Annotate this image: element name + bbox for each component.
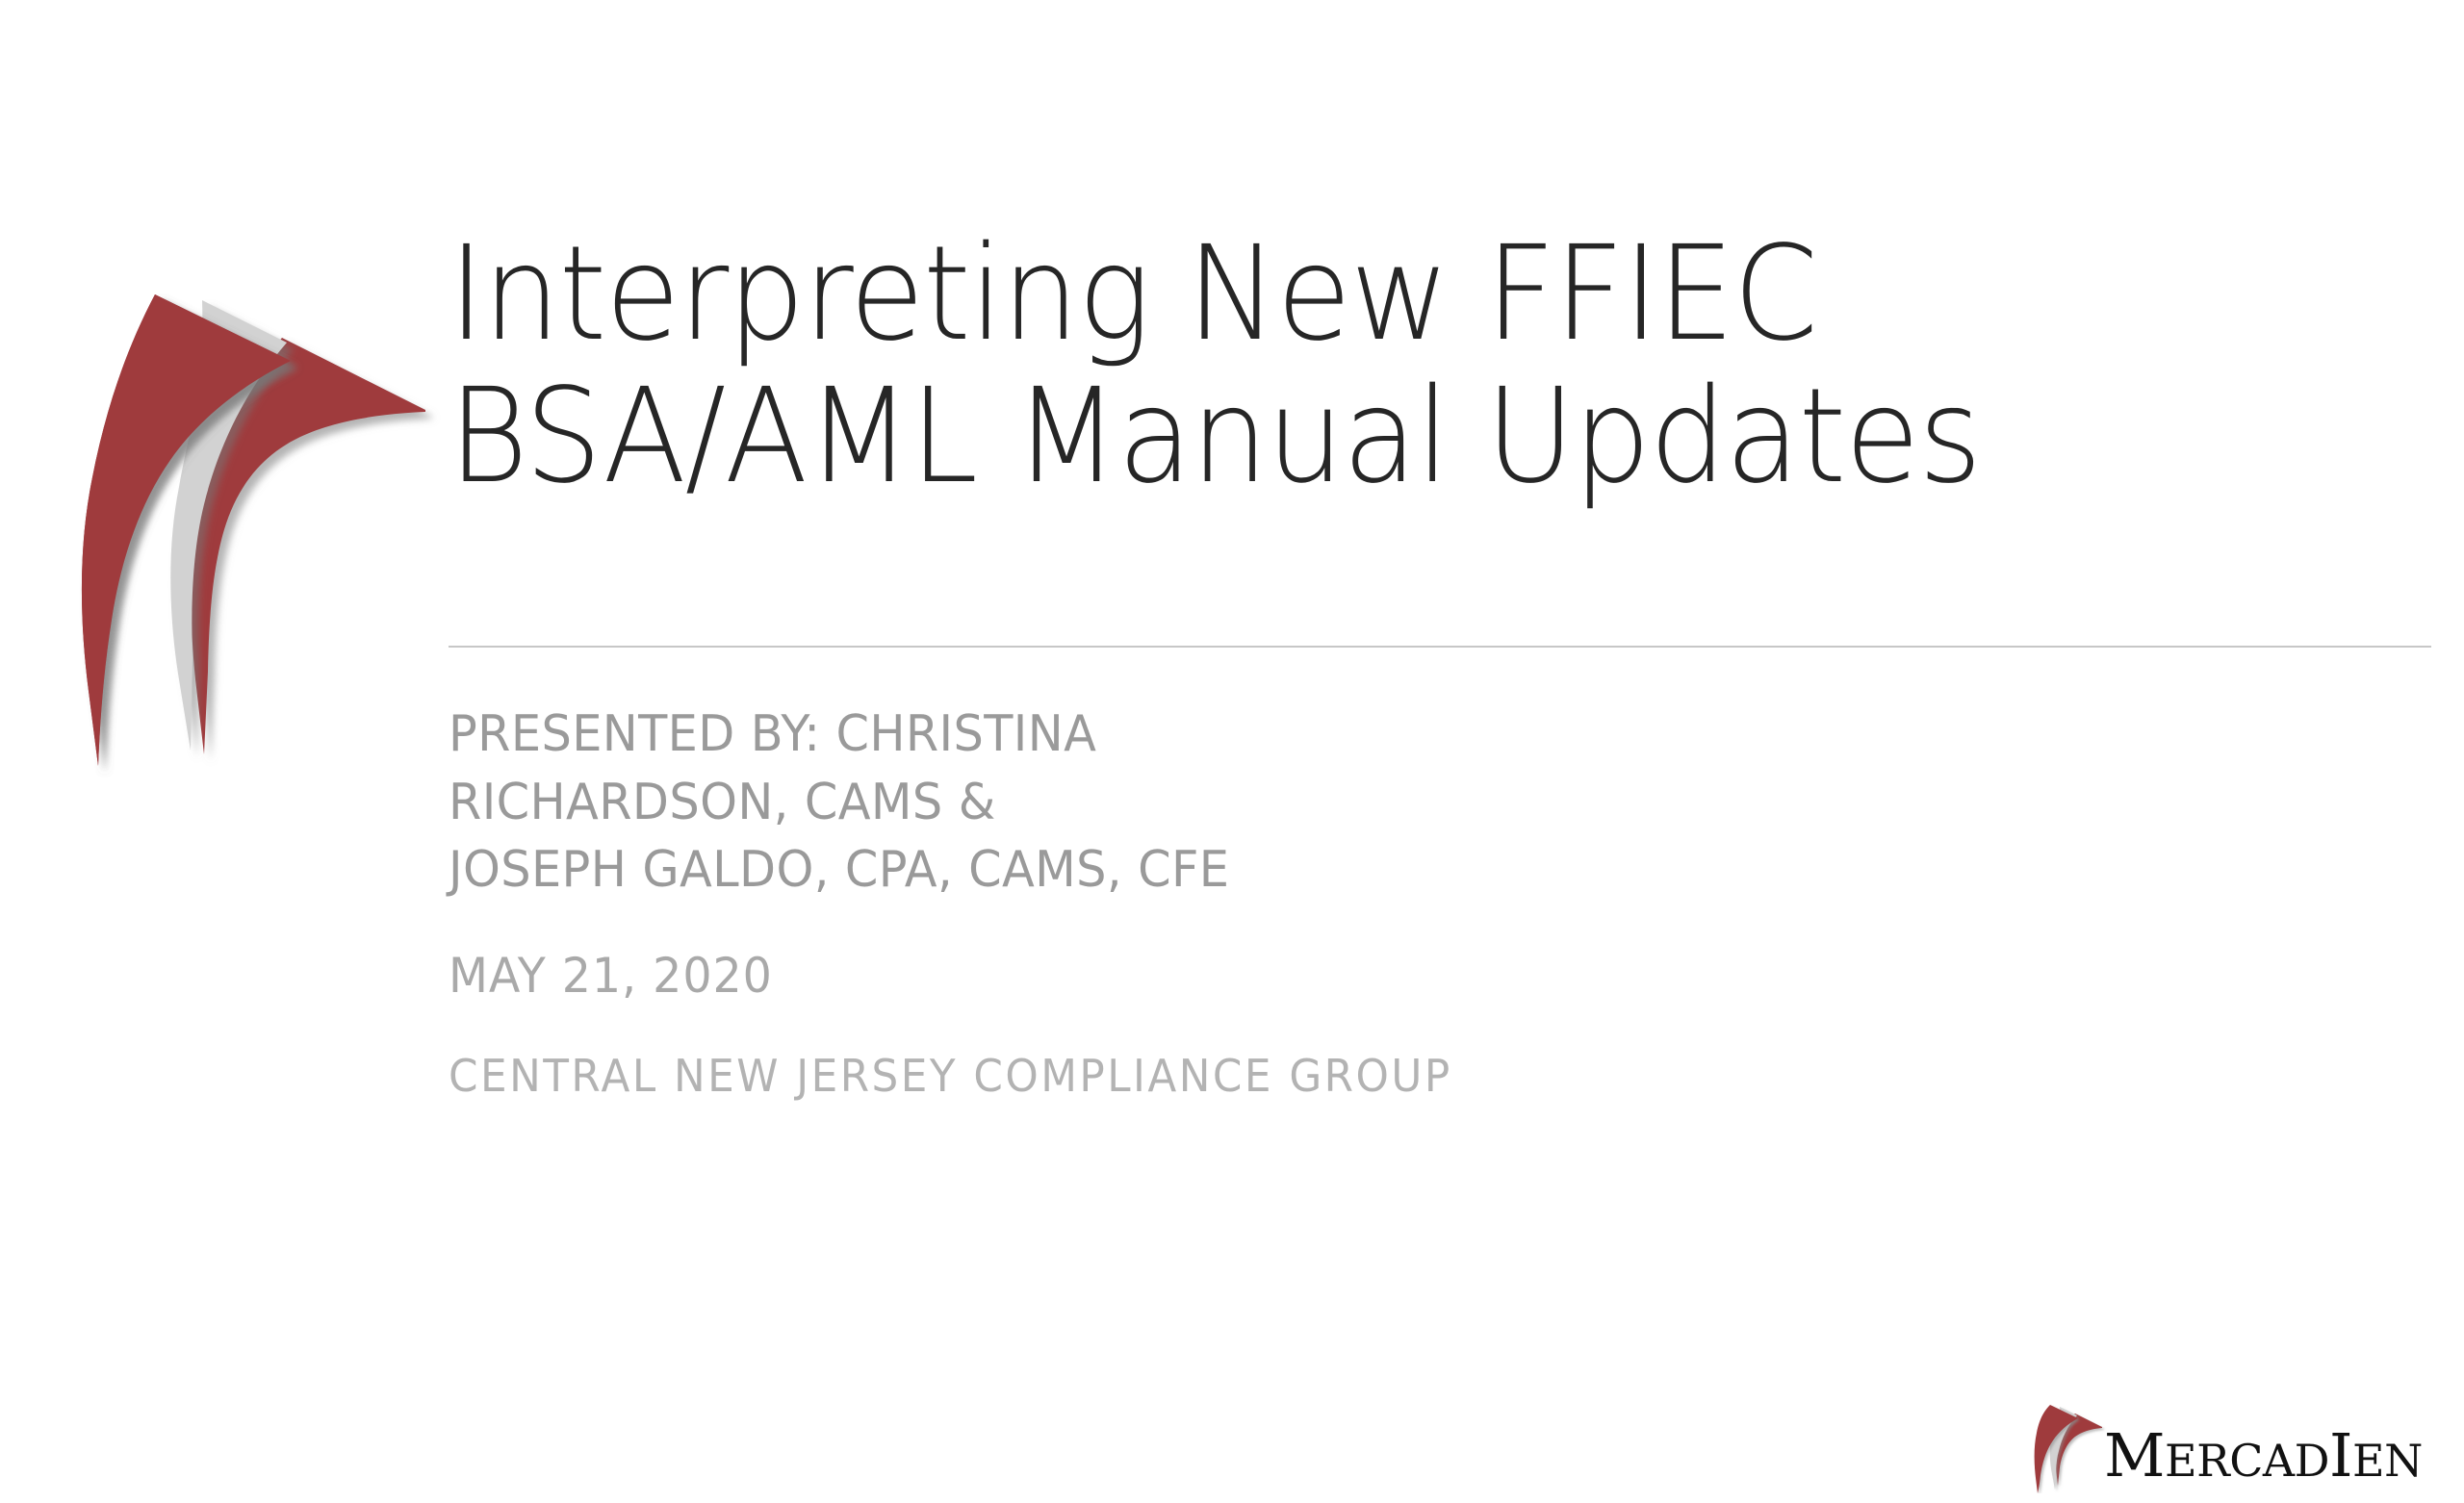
presentation-date: MAY 21, 2020 bbox=[449, 945, 2342, 1007]
title-line-2: BSA/AML Manual Updates bbox=[449, 366, 2301, 508]
presentation-group: CENTRAL NEW JERSEY COMPLIANCE GROUP bbox=[449, 1048, 2342, 1106]
mercadien-swoosh-logo-icon bbox=[38, 239, 443, 787]
wordmark-cap-m: M bbox=[2104, 1420, 2165, 1490]
wordmark-cap-i: I bbox=[2329, 1420, 2352, 1490]
subtitle-block: PRESENTED BY: CHRISTINA RICHARDSON, CAMS… bbox=[449, 701, 2441, 1106]
wordmark-en: EN bbox=[2352, 1435, 2423, 1487]
presenter-line-2: JOSEPH GALDO, CPA, CAMS, CFE bbox=[449, 836, 1409, 904]
mercadien-wordmark: MERCADIEN bbox=[2104, 1426, 2423, 1486]
presenter-line-1: PRESENTED BY: CHRISTINA RICHARDSON, CAMS… bbox=[449, 701, 1409, 836]
mercadien-footer-swoosh-icon bbox=[2027, 1397, 2108, 1493]
mercadien-footer-logo: MERCADIEN bbox=[2027, 1393, 2441, 1493]
wordmark-ercad: ERCAD bbox=[2165, 1435, 2329, 1487]
title-divider bbox=[449, 646, 2431, 648]
slide-title: Interpreting New FFIEC BSA/AML Manual Up… bbox=[449, 223, 2441, 508]
presentation-slide: Interpreting New FFIEC BSA/AML Manual Up… bbox=[0, 0, 2464, 1503]
title-line-1: Interpreting New FFIEC bbox=[449, 223, 2301, 366]
